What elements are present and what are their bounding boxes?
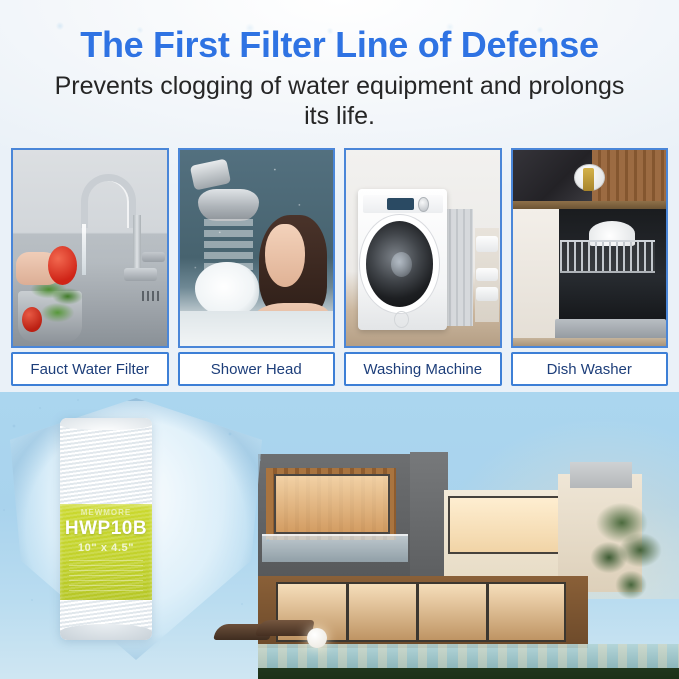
window-mullion (346, 582, 349, 642)
page-headline: The First Filter Line of Defense (0, 24, 679, 66)
cartridge-bottom-cap (60, 624, 152, 640)
washing-machine-photo (346, 150, 500, 346)
model-number: HWP10B (60, 518, 152, 540)
door-release-button (394, 311, 409, 329)
bottom-hero-scene: MEWMORE HWP10B 10" x 4.5" (0, 392, 679, 679)
faucet-photo (13, 150, 167, 346)
concrete-pillar (410, 452, 448, 582)
folded-towel (476, 236, 497, 252)
digital-display (387, 198, 413, 210)
cartridge-label: MEWMORE HWP10B 10" x 4.5" (60, 504, 152, 600)
sink-grate (142, 291, 159, 301)
cartridge-top-cap (60, 418, 152, 430)
feature-tile-washing-machine (344, 148, 502, 348)
shower-head (198, 189, 259, 220)
faucet-base (124, 268, 158, 282)
filter-cartridge: MEWMORE HWP10B 10" x 4.5" (60, 418, 152, 640)
bathtub-edge (180, 311, 334, 346)
feature-tile-dish-washer (511, 148, 669, 348)
faucet-neck (133, 215, 141, 274)
grass-lawn (258, 668, 679, 679)
folded-towel (476, 287, 497, 301)
feature-tile-faucet-water-filter (11, 148, 169, 348)
sphere-lamp (307, 628, 327, 648)
window-mullion (486, 582, 489, 642)
shower-photo (180, 150, 334, 346)
water-splash-shield: MEWMORE HWP10B 10" x 4.5" (0, 392, 292, 674)
product-marketing-image: The First Filter Line of Defense Prevent… (0, 0, 679, 679)
page-subheadline: Prevents clogging of water equipment and… (44, 72, 635, 131)
folded-towel (476, 268, 497, 282)
faucet-handle (142, 252, 165, 262)
faucet-spout (81, 174, 136, 229)
dishwasher-photo (513, 150, 667, 346)
brass-vase (583, 168, 594, 192)
floor (513, 338, 667, 346)
caption-shower-head: Shower Head (178, 352, 336, 386)
caption-faucet-water-filter: Fauct Water Filter (11, 352, 169, 386)
caption-washing-machine: Washing Machine (344, 352, 502, 386)
label-fine-print (69, 560, 143, 594)
right-tower-top (570, 462, 632, 488)
door-glass-reflection (391, 252, 412, 277)
cabinet-front (513, 209, 559, 346)
window-mullion (416, 582, 419, 642)
caption-dish-washer: Dish Washer (511, 352, 669, 386)
feature-tile-shower-head (178, 148, 336, 348)
water-stream (82, 224, 86, 275)
feature-captions: Fauct Water Filter Shower Head Washing M… (11, 352, 668, 386)
brand-name: MEWMORE (60, 508, 152, 517)
counter-top (513, 201, 667, 209)
machine-side-vent (444, 209, 473, 327)
feature-tiles (11, 148, 668, 348)
middle-glass-window (448, 496, 560, 554)
dish-rack (560, 240, 655, 273)
cartridge-size: 10" x 4.5" (60, 542, 152, 554)
program-dial (418, 197, 429, 212)
foam-bubbles (195, 262, 259, 317)
